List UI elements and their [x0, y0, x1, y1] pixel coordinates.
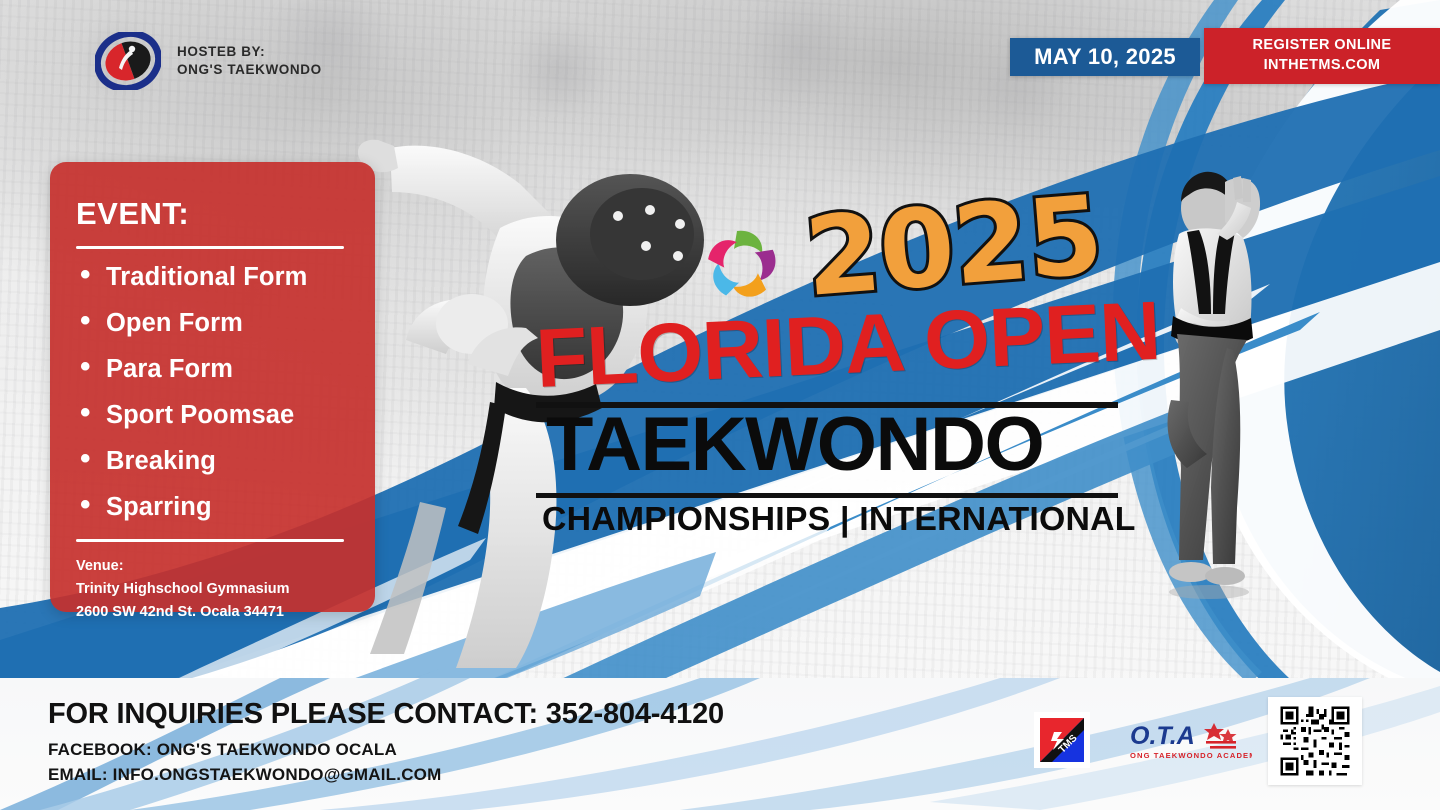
list-item: Open Form [76, 309, 349, 338]
ota-logo-icon: O.T.A ONG TAEKWONDO ACADEMY [1128, 717, 1252, 763]
event-divider-bottom [76, 539, 344, 542]
date-badge: MAY 10, 2025 [1010, 38, 1200, 76]
svg-text:O.T.A: O.T.A [1130, 722, 1195, 750]
contact-facebook-line: FACEBOOK: ONG'S TAEKWONDO OCALA [48, 740, 397, 760]
event-poster: HOSTEB BY: ONG'S TAEKWONDO MAY 10, 2025 … [0, 0, 1440, 810]
venue-address: 2600 SW 42nd St. Ocala 34471 [76, 601, 349, 624]
svg-text:ONG TAEKWONDO ACADEMY: ONG TAEKWONDO ACADEMY [1130, 751, 1252, 760]
list-item: Sparring [76, 493, 349, 522]
event-panel-title: EVENT: [76, 196, 349, 232]
event-panel: EVENT: Traditional Form Open Form Para F… [50, 162, 375, 612]
ongs-taekwondo-oval-logo-icon [95, 32, 161, 90]
list-item: Sport Poomsae [76, 401, 349, 430]
list-item: Breaking [76, 447, 349, 476]
qr-code[interactable] [1268, 697, 1362, 785]
date-badge-text: MAY 10, 2025 [1034, 44, 1176, 70]
venue-label: Venue: [76, 555, 349, 578]
register-line-2: INTHETMS.COM [1264, 56, 1381, 76]
host-name: ONG'S TAEKWONDO [177, 61, 322, 79]
tms-logo-icon: TMS [1034, 712, 1090, 768]
host-label: HOSTEB BY: [177, 43, 322, 61]
event-divider-top [76, 246, 344, 249]
contact-email-line: EMAIL: INFO.ONGSTAEKWONDO@GMAIL.COM [48, 765, 441, 785]
venue-name: Trinity Highschool Gymnasium [76, 578, 349, 601]
register-line-1: REGISTER ONLINE [1253, 36, 1392, 56]
venue-block: Venue: Trinity Highschool Gymnasium 2600… [76, 555, 349, 625]
right-athlete-photo [1155, 168, 1350, 618]
title-line-taekwondo: TAEKWONDO [546, 403, 1043, 487]
title-line-championships: CHAMPIONSHIPS | INTERNATIONAL [542, 501, 1136, 539]
list-item: Traditional Form [76, 263, 349, 292]
register-online-badge[interactable]: REGISTER ONLINE INTHETMS.COM [1204, 28, 1440, 84]
event-list: Traditional Form Open Form Para Form Spo… [76, 263, 349, 522]
title-rule-bottom [536, 493, 1118, 498]
host-block: HOSTEB BY: ONG'S TAEKWONDO [95, 32, 322, 90]
contact-phone-line: FOR INQUIRIES PLEASE CONTACT: 352-804-41… [48, 698, 724, 731]
list-item: Para Form [76, 355, 349, 384]
multicolor-pinwheel-people-logo-icon [700, 223, 784, 307]
